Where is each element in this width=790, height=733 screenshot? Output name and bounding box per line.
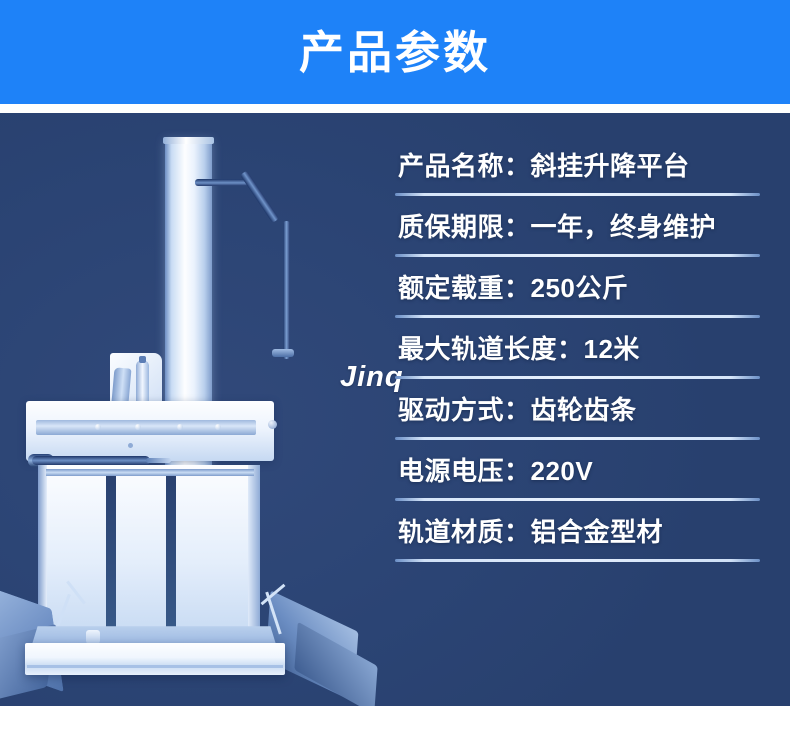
carriage-bolt (177, 424, 183, 430)
handrail-vertical (283, 221, 290, 359)
lower-body-panel (38, 465, 260, 627)
content-panel: Jinq 产品名称：斜挂升降平台 质保期限：一年，终身维护 额定载重：250公斤… (0, 113, 790, 706)
mast-cap (163, 137, 214, 144)
spec-list: 产品名称：斜挂升降平台 质保期限：一年，终身维护 额定载重：250公斤 最大轨道… (395, 135, 760, 562)
carriage-knob (268, 420, 277, 429)
page-title: 产品参数 (299, 30, 491, 75)
footer-whitespace (0, 706, 790, 733)
spec-row-text: 质保期限：一年，终身维护 (398, 207, 716, 244)
hydraulic-cylinder-a (112, 367, 132, 403)
spec-row-text: 轨道材质：铝合金型材 (398, 512, 663, 549)
carriage-rail-strip (36, 420, 256, 435)
cylinder-cap (139, 356, 146, 363)
product-photo (0, 113, 390, 706)
carriage-bolt (95, 424, 101, 430)
carriage-screw (128, 443, 133, 448)
spec-row-text: 最大轨道长度：12米 (398, 329, 640, 366)
spec-row: 额定载重：250公斤 (395, 257, 760, 318)
side-handle-tip (146, 458, 171, 463)
platform-deck-front (25, 643, 285, 675)
spec-row: 产品名称：斜挂升降平台 (395, 135, 760, 196)
panel-seam (166, 469, 176, 627)
panel-seam (106, 469, 116, 627)
spec-row: 最大轨道长度：12米 (395, 318, 760, 379)
spec-row: 驱动方式：齿轮齿条 (395, 379, 760, 440)
spec-row-divider (395, 559, 760, 562)
side-handle-bar (32, 456, 150, 465)
spec-row: 质保期限：一年，终身维护 (395, 196, 760, 257)
carriage-bolt (135, 424, 141, 430)
spec-row-text: 额定载重：250公斤 (398, 268, 628, 305)
spec-row-text: 产品名称：斜挂升降平台 (398, 146, 690, 183)
spec-row: 电源电压：220V (395, 440, 760, 501)
panel-edge-left (38, 465, 47, 627)
spec-row-text: 电源电压：220V (398, 451, 593, 488)
handrail-foot (272, 349, 294, 357)
header-banner: 产品参数 (0, 0, 790, 104)
spec-row-text: 驱动方式：齿轮齿条 (398, 390, 637, 427)
header-divider-gap (0, 104, 790, 113)
panel-edge-right (248, 465, 260, 627)
hydraulic-cylinder-b (136, 360, 149, 403)
handrail-diagonal (240, 171, 279, 224)
carriage-bolt (215, 424, 221, 430)
spec-row: 轨道材质：铝合金型材 (395, 501, 760, 562)
panel-cross-bar (46, 469, 254, 476)
platform-deck-seam (27, 665, 283, 668)
product-spec-page: 产品参数 (0, 0, 790, 733)
